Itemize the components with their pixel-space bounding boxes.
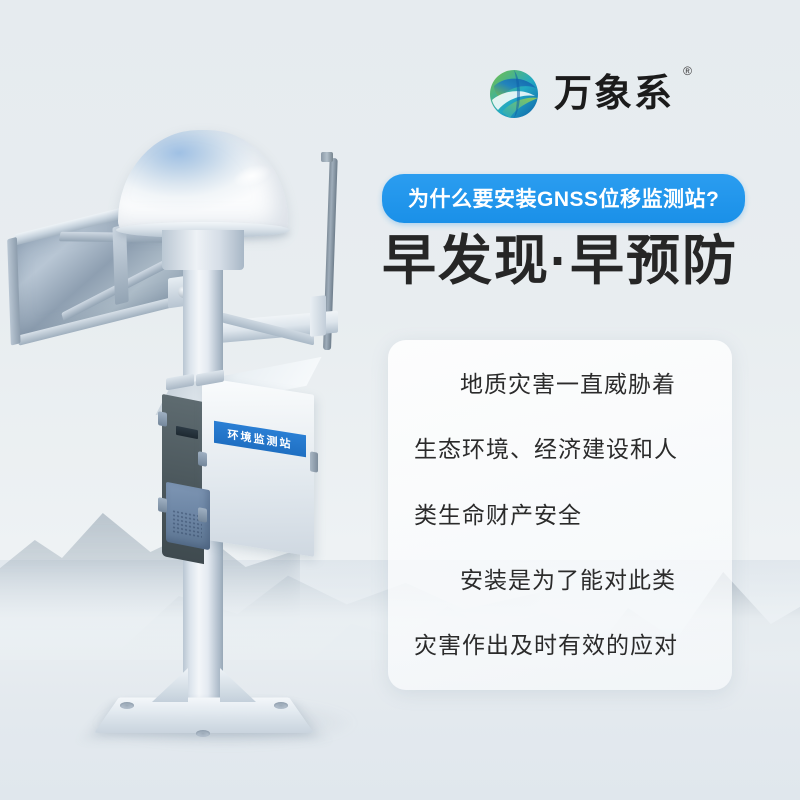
base-bolt-hole [196,730,210,737]
brand-name: 万象系 [554,75,674,113]
body-line-2: 生态环境、经济建设和人 [414,435,706,464]
base-gusset [220,668,256,702]
globe-swoosh-logo-icon [488,68,540,120]
crossarm-end-bracket [310,295,326,337]
brand-logo: 万象系 ® [488,68,674,120]
base-bolt-hole [274,702,288,709]
body-line-1: 地质灾害一直威胁着 [414,370,706,399]
enclosure-latch [310,451,318,472]
solar-panel-rib [112,224,128,305]
base-bolt-hole [120,702,134,709]
poster-canvas: 环境监测站 [0,0,800,800]
body-line-4: 安装是为了能对此类 [414,566,706,595]
page-title: 早发现·早预防 [382,232,738,291]
dome-neck [162,230,244,270]
registered-trademark-icon: ® [683,64,692,78]
whip-antenna-cap [321,152,333,162]
enclosure-clip [198,507,207,523]
enclosure-front-face [202,377,314,557]
question-badge: 为什么要安装GNSS位移监测站? [382,174,745,223]
gnss-monitoring-station: 环境监测站 [0,0,420,800]
enclosure-clip [198,451,207,467]
body-line-5: 灾害作出及时有效的应对 [414,631,706,660]
body-line-3: 类生命财产安全 [414,501,706,530]
enclosure-clip [158,497,167,513]
enclosure-clip [158,411,167,427]
body-text-card: 地质灾害一直威胁着 生态环境、经济建设和人 类生命财产安全 安装是为了能对此类 … [388,340,732,690]
